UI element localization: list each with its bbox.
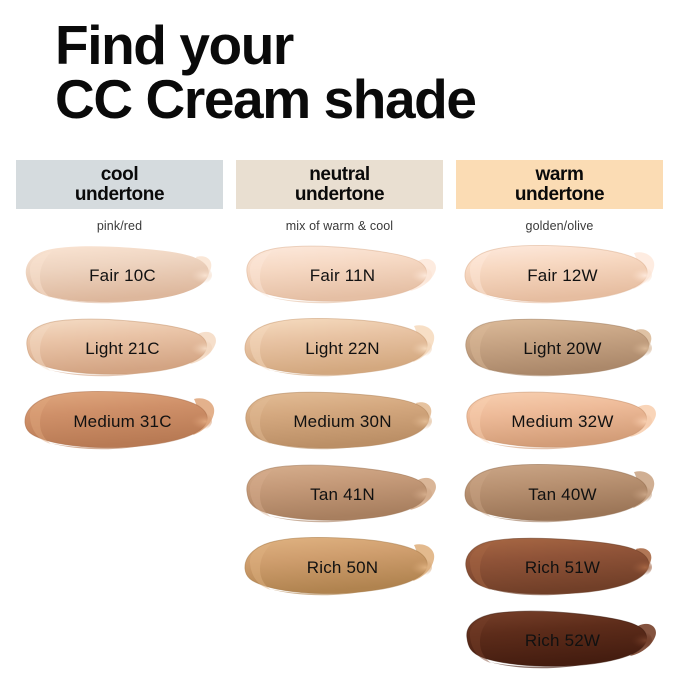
column-header-neutral-line-1: neutral [309,165,370,185]
shade-swatch: Medium 30N [236,385,443,458]
undertone-column-neutral: neutral undertone mix of warm & cool Fai… [236,160,443,604]
shade-name-label: Light 22N [236,339,443,359]
shade-swatch: Rich 51W [456,531,663,604]
column-header-cool: cool undertone [16,160,223,209]
shade-name-label: Tan 40W [456,485,663,505]
shade-swatch: Fair 11N [236,239,443,312]
shade-swatch: Light 20W [456,312,663,385]
shade-name-label: Medium 32W [456,412,663,432]
column-header-warm-line-1: warm [535,165,583,185]
shade-swatch: Fair 12W [456,239,663,312]
undertone-columns: cool undertone pink/red Fair 10CLight 21… [0,160,679,679]
column-header-warm: warm undertone [456,160,663,209]
column-header-warm-line-2: undertone [515,185,604,205]
shade-name-label: Fair 12W [456,266,663,286]
shade-swatch: Medium 32W [456,385,663,458]
shade-swatch: Rich 52W [456,604,663,677]
shade-name-label: Rich 51W [456,558,663,578]
column-header-cool-line-1: cool [101,165,138,185]
column-header-neutral: neutral undertone [236,160,443,209]
shade-swatch: Tan 40W [456,458,663,531]
column-subtitle-cool: pink/red [16,209,223,234]
undertone-column-cool: cool undertone pink/red Fair 10CLight 21… [16,160,223,458]
shade-name-label: Light 20W [456,339,663,359]
swatch-list-warm: Fair 12WLight 20WMedium 32WTan 40WRich 5… [456,239,663,677]
shade-name-label: Rich 52W [456,631,663,651]
swatch-list-cool: Fair 10CLight 21CMedium 31C [16,239,223,458]
shade-name-label: Medium 30N [236,412,443,432]
undertone-column-warm: warm undertone golden/olive Fair 12WLigh… [456,160,663,677]
shade-swatch: Light 22N [236,312,443,385]
shade-finder-page: Find your CC Cream shade cool undertone … [0,0,679,679]
shade-name-label: Rich 50N [236,558,443,578]
shade-name-label: Medium 31C [16,412,223,432]
column-header-cool-line-2: undertone [75,185,164,205]
shade-swatch: Tan 41N [236,458,443,531]
shade-swatch: Fair 10C [16,239,223,312]
page-title-line-2: CC Cream shade [55,72,655,126]
shade-name-label: Fair 11N [236,266,443,286]
shade-swatch: Rich 50N [236,531,443,604]
page-title-line-1: Find your [55,18,655,72]
shade-name-label: Tan 41N [236,485,443,505]
column-subtitle-warm: golden/olive [456,209,663,234]
shade-name-label: Light 21C [16,339,223,359]
swatch-list-neutral: Fair 11NLight 22NMedium 30NTan 41NRich 5… [236,239,443,604]
shade-name-label: Fair 10C [16,266,223,286]
column-subtitle-neutral: mix of warm & cool [236,209,443,234]
shade-swatch: Light 21C [16,312,223,385]
column-header-neutral-line-2: undertone [295,185,384,205]
shade-swatch: Medium 31C [16,385,223,458]
page-title: Find your CC Cream shade [55,18,655,126]
